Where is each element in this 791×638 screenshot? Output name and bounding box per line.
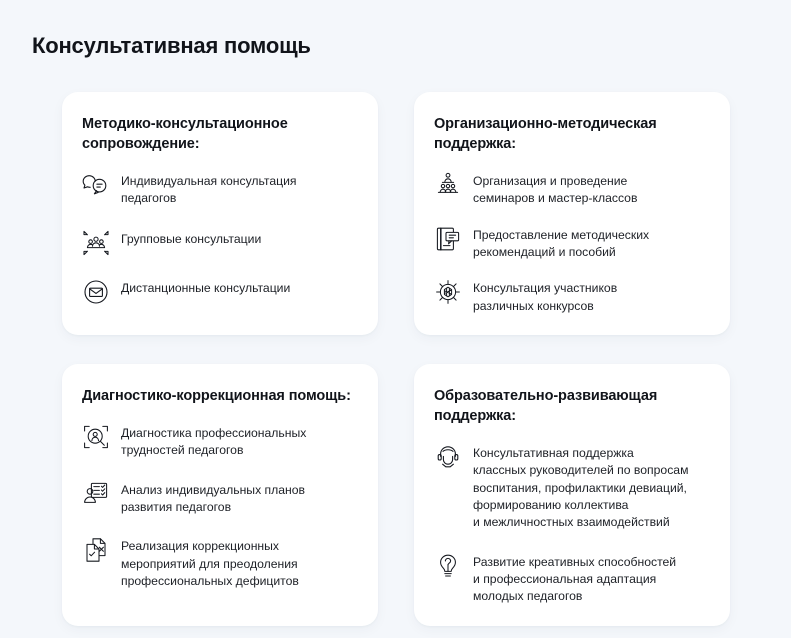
list-item: Консультация участников различных конкур… [434, 278, 710, 315]
card-educational-development: Образовательно-развивающая поддержка: [414, 364, 730, 626]
list-item-label: Консультация участников различных конкур… [473, 278, 617, 315]
lightbulb-idea-icon [434, 552, 462, 580]
person-headset-icon [434, 443, 462, 471]
card-items-list: Консультативная поддержка классных руков… [434, 443, 710, 606]
list-item-label: Диагностика профессиональных трудностей … [121, 423, 306, 460]
infographic-page: Консультативная помощь Методико-консульт… [0, 0, 791, 638]
book-speech-bubble-icon [434, 225, 462, 253]
list-item: Реализация коррекционных мероприятий для… [82, 536, 358, 590]
list-item: Развитие креативных способностей и профе… [434, 552, 710, 606]
list-item: Предоставление методических рекомендаций… [434, 225, 710, 262]
group-people-focus-icon [82, 229, 110, 257]
card-title: Образовательно-развивающая поддержка: [434, 386, 710, 426]
cards-grid: Методико-консультационное сопровождение:… [62, 92, 730, 626]
list-item: Консультативная поддержка классных руков… [434, 443, 710, 532]
list-item-label: Групповые консультации [121, 229, 261, 248]
presenter-audience-icon [434, 171, 462, 199]
list-item-label: Реализация коррекционных мероприятий для… [121, 536, 299, 590]
card-items-list: Диагностика профессиональных трудностей … [82, 423, 358, 590]
list-item: Анализ индивидуальных планов развития пе… [82, 480, 358, 517]
person-magnifier-scan-icon [82, 423, 110, 451]
card-items-list: Организация и проведение семинаров и мас… [434, 171, 710, 315]
person-checklist-icon [82, 480, 110, 508]
list-item: Индивидуальная консультация педагогов [82, 171, 358, 208]
list-item-label: Дистанционные консультации [121, 278, 290, 297]
page-title: Консультативная помощь [32, 33, 311, 59]
envelope-circle-icon [82, 278, 110, 306]
documents-check-icon [82, 536, 110, 564]
card-items-list: Индивидуальная консультация педагогов [82, 171, 358, 306]
list-item-label: Консультативная поддержка классных руков… [473, 443, 688, 532]
card-title: Методико-консультационное сопровождение: [82, 114, 358, 154]
speech-bubbles-icon [82, 171, 110, 199]
card-organizational-support: Организационно-методическая поддержка: [414, 92, 730, 335]
list-item: Групповые консультации [82, 229, 358, 257]
card-title: Диагностико-коррекционная помощь: [82, 386, 358, 406]
list-item-label: Организация и проведение семинаров и мас… [473, 171, 637, 208]
card-title: Организационно-методическая поддержка: [434, 114, 710, 154]
card-diagnostic-correction: Диагностико-коррекционная помощь: Диагно… [62, 364, 378, 626]
list-item-label: Анализ индивидуальных планов развития пе… [121, 480, 305, 517]
list-item-label: Индивидуальная консультация педагогов [121, 171, 297, 208]
award-rosette-icon [434, 278, 462, 306]
list-item: Дистанционные консультации [82, 278, 358, 306]
card-methodological-support: Методико-консультационное сопровождение:… [62, 92, 378, 335]
list-item: Диагностика профессиональных трудностей … [82, 423, 358, 460]
list-item-label: Предоставление методических рекомендаций… [473, 225, 649, 262]
list-item-label: Развитие креативных способностей и профе… [473, 552, 676, 606]
list-item: Организация и проведение семинаров и мас… [434, 171, 710, 208]
